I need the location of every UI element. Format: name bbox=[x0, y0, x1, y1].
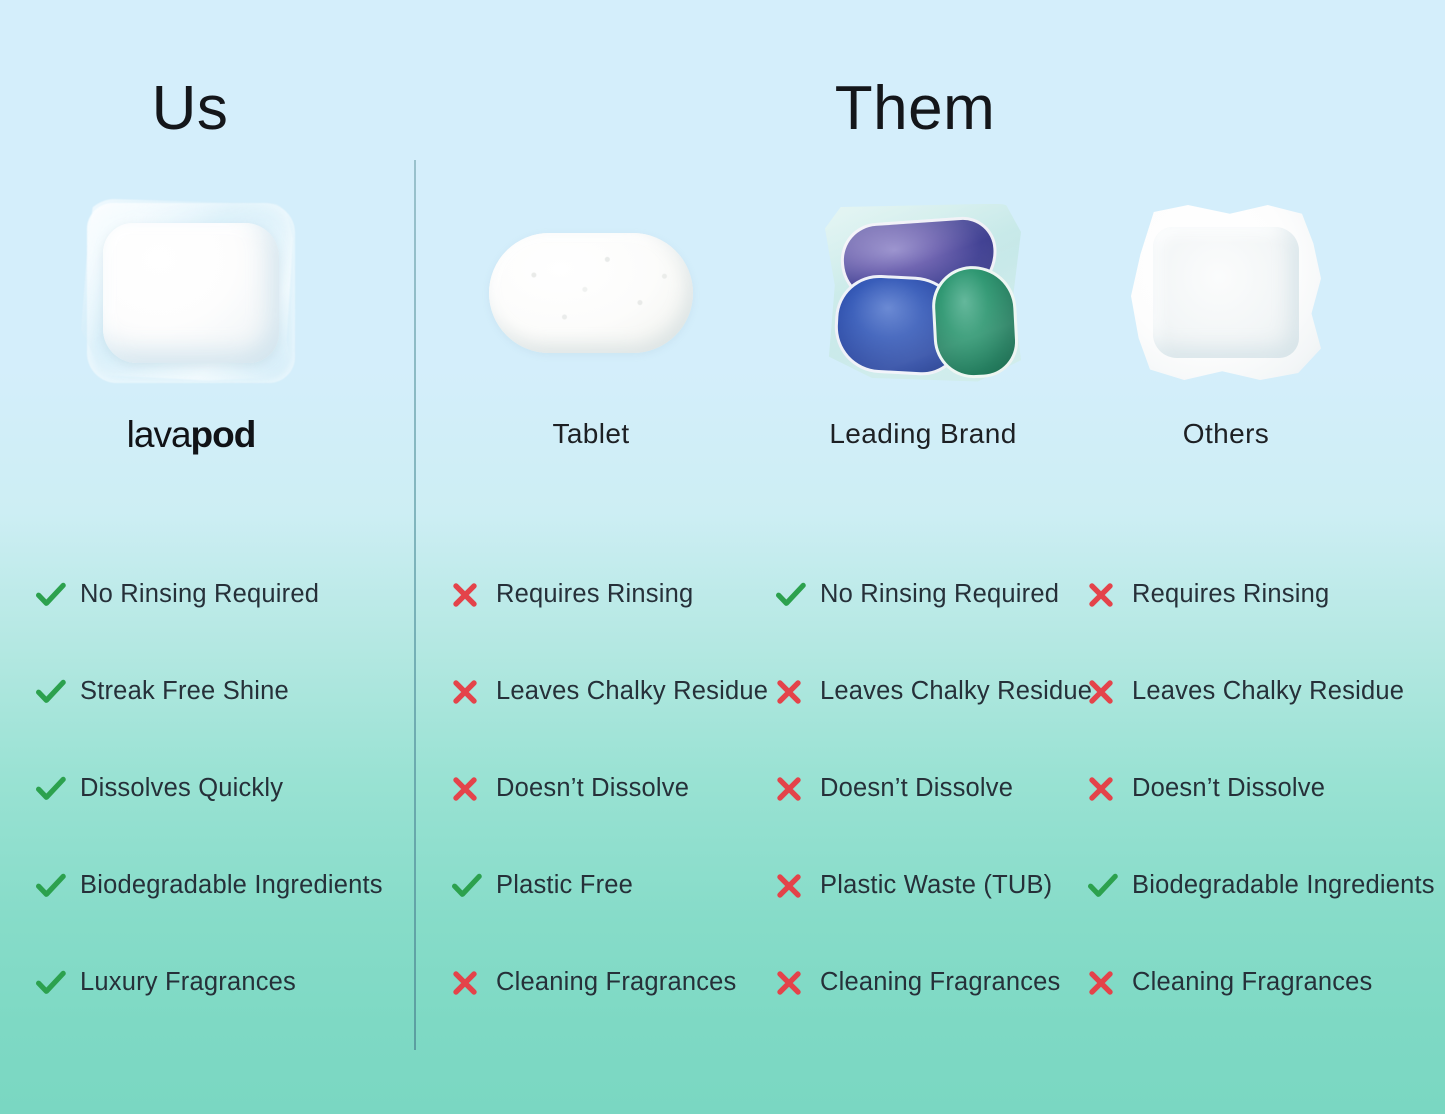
feature-label: Streak Free Shine bbox=[80, 677, 289, 705]
check-icon bbox=[36, 873, 80, 899]
cross-icon bbox=[452, 776, 496, 802]
feature-column-lavapod: No Rinsing RequiredStreak Free ShineDiss… bbox=[36, 546, 383, 1031]
product-label-tablet: Tablet bbox=[460, 418, 722, 450]
feature-row: Doesn’t Dissolve bbox=[776, 740, 1092, 837]
product-image-lavapod bbox=[60, 185, 322, 400]
feature-row: Biodegradable Ingredients bbox=[36, 837, 383, 934]
cross-icon bbox=[1088, 582, 1132, 608]
comparison-infographic: Us Them lavapod Tablet Leading bbox=[0, 0, 1445, 1114]
feature-row: Cleaning Fragrances bbox=[1088, 934, 1435, 1031]
check-icon bbox=[36, 582, 80, 608]
feature-label: Doesn’t Dissolve bbox=[820, 774, 1013, 802]
product-cell-lavapod: lavapod bbox=[60, 185, 322, 495]
cross-icon bbox=[452, 679, 496, 705]
product-label-leading-brand: Leading Brand bbox=[792, 418, 1054, 450]
sachet-pod-icon bbox=[87, 203, 295, 383]
feature-row: Streak Free Shine bbox=[36, 643, 383, 740]
feature-label: Cleaning Fragrances bbox=[820, 968, 1061, 996]
feature-label: Plastic Waste (TUB) bbox=[820, 871, 1052, 899]
cross-icon bbox=[776, 970, 820, 996]
feature-label: No Rinsing Required bbox=[80, 580, 319, 608]
feature-row: Leaves Chalky Residue bbox=[452, 643, 768, 740]
feature-row: Requires Rinsing bbox=[452, 546, 768, 643]
page-title-them: Them bbox=[630, 78, 1200, 140]
column-divider bbox=[414, 160, 416, 1050]
three-chamber-pod-icon bbox=[825, 204, 1021, 382]
feature-label: Plastic Free bbox=[496, 871, 633, 899]
check-icon bbox=[36, 776, 80, 802]
feature-label: Cleaning Fragrances bbox=[496, 968, 737, 996]
cross-icon bbox=[776, 873, 820, 899]
product-cell-tablet: Tablet bbox=[460, 185, 722, 495]
feature-column-leading-brand: No Rinsing RequiredLeaves Chalky Residue… bbox=[776, 546, 1092, 1031]
feature-label: Leaves Chalky Residue bbox=[820, 677, 1092, 705]
feature-row: Doesn’t Dissolve bbox=[452, 740, 768, 837]
cross-icon bbox=[776, 679, 820, 705]
product-label-others: Others bbox=[1095, 418, 1357, 450]
feature-row: Leaves Chalky Residue bbox=[776, 643, 1092, 740]
check-icon bbox=[36, 679, 80, 705]
check-icon bbox=[452, 873, 496, 899]
lavapod-logo: lavapod bbox=[60, 416, 322, 453]
feature-row: Plastic Waste (TUB) bbox=[776, 837, 1092, 934]
cross-icon bbox=[452, 970, 496, 996]
feature-row: Plastic Free bbox=[452, 837, 768, 934]
feature-row: No Rinsing Required bbox=[776, 546, 1092, 643]
feature-label: Leaves Chalky Residue bbox=[1132, 677, 1404, 705]
cross-icon bbox=[1088, 679, 1132, 705]
feature-label: Requires Rinsing bbox=[496, 580, 693, 608]
feature-label: Biodegradable Ingredients bbox=[1132, 871, 1435, 899]
check-icon bbox=[776, 582, 820, 608]
feature-row: Cleaning Fragrances bbox=[452, 934, 768, 1031]
check-icon bbox=[36, 970, 80, 996]
feature-column-others: Requires RinsingLeaves Chalky ResidueDoe… bbox=[1088, 546, 1435, 1031]
white-pillow-pod-icon bbox=[1131, 205, 1321, 380]
feature-row: No Rinsing Required bbox=[36, 546, 383, 643]
product-cell-others: Others bbox=[1095, 185, 1357, 495]
page-title-us: Us bbox=[0, 78, 380, 140]
feature-row: Biodegradable Ingredients bbox=[1088, 837, 1435, 934]
feature-column-tablet: Requires RinsingLeaves Chalky ResidueDoe… bbox=[452, 546, 768, 1031]
feature-row: Luxury Fragrances bbox=[36, 934, 383, 1031]
oval-tablet-icon bbox=[489, 233, 693, 353]
check-icon bbox=[1088, 873, 1132, 899]
feature-row: Cleaning Fragrances bbox=[776, 934, 1092, 1031]
logo-text-bold: pod bbox=[191, 414, 256, 455]
product-cell-leading-brand: Leading Brand bbox=[792, 185, 1054, 495]
product-image-leading-brand bbox=[792, 185, 1054, 400]
feature-row: Leaves Chalky Residue bbox=[1088, 643, 1435, 740]
cross-icon bbox=[1088, 776, 1132, 802]
product-image-others bbox=[1095, 185, 1357, 400]
feature-label: Leaves Chalky Residue bbox=[496, 677, 768, 705]
cross-icon bbox=[1088, 970, 1132, 996]
feature-row: Dissolves Quickly bbox=[36, 740, 383, 837]
feature-row: Doesn’t Dissolve bbox=[1088, 740, 1435, 837]
feature-label: Doesn’t Dissolve bbox=[1132, 774, 1325, 802]
feature-label: No Rinsing Required bbox=[820, 580, 1059, 608]
feature-label: Doesn’t Dissolve bbox=[496, 774, 689, 802]
cross-icon bbox=[776, 776, 820, 802]
feature-label: Biodegradable Ingredients bbox=[80, 871, 383, 899]
product-image-tablet bbox=[460, 185, 722, 400]
logo-text-light: lava bbox=[127, 414, 191, 455]
feature-label: Requires Rinsing bbox=[1132, 580, 1329, 608]
feature-label: Luxury Fragrances bbox=[80, 968, 296, 996]
feature-label: Dissolves Quickly bbox=[80, 774, 283, 802]
feature-label: Cleaning Fragrances bbox=[1132, 968, 1373, 996]
feature-row: Requires Rinsing bbox=[1088, 546, 1435, 643]
cross-icon bbox=[452, 582, 496, 608]
